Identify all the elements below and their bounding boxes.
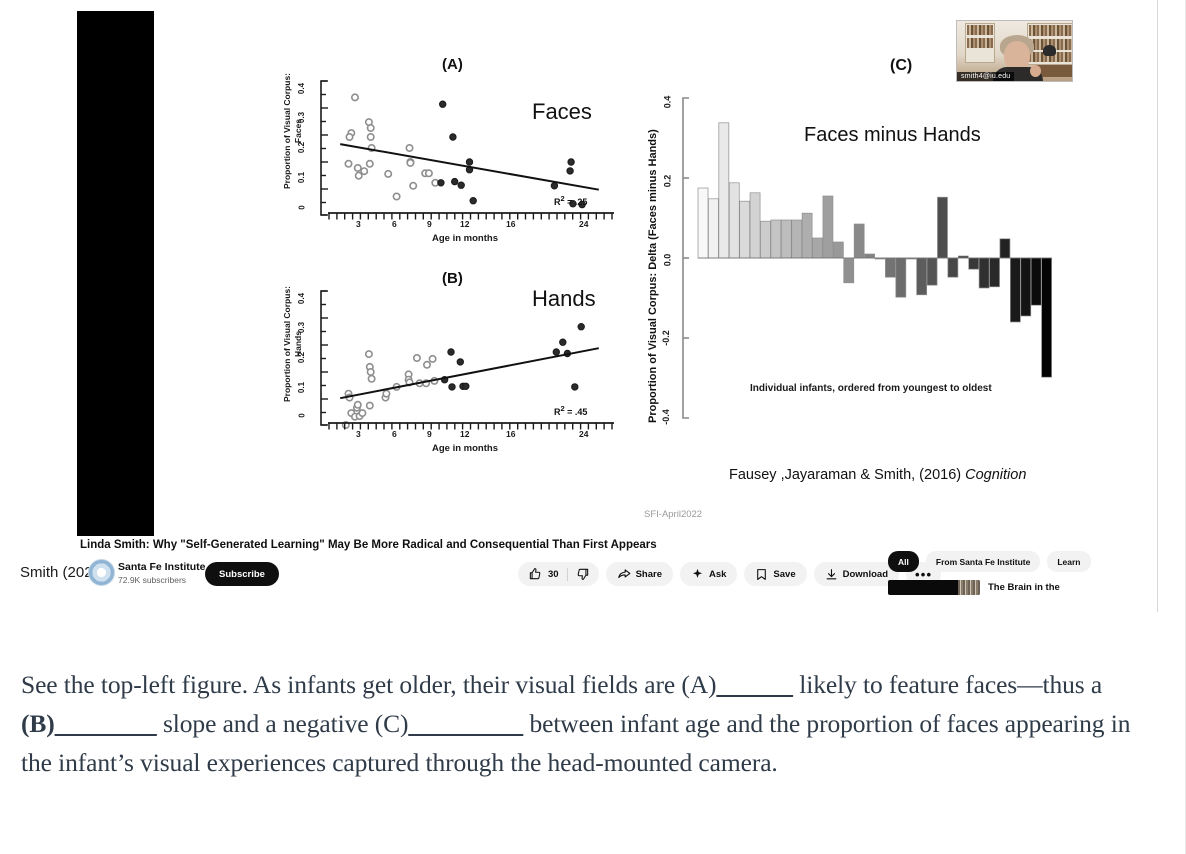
panel-a-ytick: 0.4 [297,83,306,94]
question-text: See the top-left figure. As infants get … [21,665,1156,782]
panel-b-xtick: 3 [356,429,361,439]
panel-b-ytick: 0.1 [297,382,306,393]
panel-b-r2: R2 = .45 [554,404,587,417]
recommended-video-title[interactable]: The Brain in the [988,582,1060,593]
player-letterbox [77,11,154,536]
video-player[interactable]: (A) Faces Proportion of Visual Corpus:Fa… [77,11,1077,536]
panel-c-ytick: -0.2 [661,330,671,346]
question-line2a: to feature faces—thus a [863,670,1102,699]
question-line2b: slope and a negative [157,709,375,738]
question-line4: captured through the head-mounted camera… [332,748,778,777]
panel-a-xtick: 3 [356,219,361,229]
recommended-video-thumbnail[interactable] [888,580,980,595]
panel-a-ytick: 0.2 [297,142,306,153]
panel-b-ytick: 0.2 [297,352,306,363]
panel-a-xaxis [326,211,616,227]
panel-b-xtick: 6 [392,429,397,439]
channel-subscriber-count: 72.9K subscribers [118,575,186,585]
blank-c: _________ [408,709,523,738]
panel-a-xtick: 6 [392,219,397,229]
panel-c-tag: (C) [890,57,912,75]
webcam-pip[interactable]: smith4@iu.edu [956,20,1073,82]
blank-b: ________ [55,709,157,738]
sidebar-filter-chips: All From Santa Fe Institute Learn [888,551,1156,572]
subscribe-button[interactable]: Subscribe [205,562,279,586]
citation-authors: Fausey ,Jayaraman & Smith, (2016) [729,467,965,483]
pip-lamp-icon [1043,45,1056,56]
channel-avatar[interactable] [88,559,115,586]
page-root: (A) Faces Proportion of Visual Corpus:Fa… [0,0,1186,854]
pip-email-label: smith4@iu.edu [957,72,1014,81]
panel-a-xtick: 9 [427,219,432,229]
thumbs-down-icon[interactable] [576,567,590,581]
panel-a-ytick: 0.1 [297,172,306,183]
save-button[interactable]: Save [744,562,806,586]
panel-b-xtick: 9 [427,429,432,439]
panel-c-ylabel: Proportion of Visual Corpus: Delta (Face… [647,129,659,423]
blank-a: ______ [716,670,793,699]
panel-b-ytick: 0.3 [297,322,306,333]
panel-c-ytick: 0.2 [662,175,672,188]
slide-citation: Fausey ,Jayaraman & Smith, (2016) Cognit… [729,467,1026,483]
pip-books [1029,25,1072,36]
channel-name[interactable]: Santa Fe Institute [118,561,206,573]
thumbnail-building-image [958,580,980,595]
share-icon [617,567,631,581]
like-dislike-group[interactable]: 30 [518,562,599,586]
panel-a-xtick: 24 [579,219,588,229]
pip-books [967,38,993,48]
panel-a-r2: R2 = .25 [554,194,587,207]
share-label: Share [636,569,662,580]
citation-journal: Cognition [965,467,1026,483]
panel-b-xlabel: Age in months [432,443,498,454]
recommended-video-item[interactable]: The Brain in the [888,580,1156,595]
panel-b-xtick: 24 [579,429,588,439]
panel-c-ytick: 0.0 [662,254,672,267]
download-icon [825,568,838,581]
video-action-row: 30 Share Ask [518,562,941,586]
panel-a-xlabel: Age in months [432,233,498,244]
panel-b-xtick: 16 [506,429,515,439]
thumbs-up-icon[interactable] [528,567,542,581]
panel-c-ytick: -0.4 [661,409,671,425]
panel-b-xaxis [326,421,616,437]
question-line1b: likely [793,670,857,699]
slide-footer: SFI-April2022 [644,509,702,520]
question-label-b: (B) [21,709,55,738]
pip-hand [1030,65,1041,77]
download-label: Download [843,569,888,580]
share-button[interactable]: Share [606,562,673,586]
save-label: Save [773,569,795,580]
filter-chip-from-channel[interactable]: From Santa Fe Institute [926,551,1040,572]
download-button[interactable]: Download [814,562,899,586]
panel-c-yaxis [675,93,697,423]
panel-b-ytick: 0.4 [297,293,306,304]
panel-c-ytick: 0.4 [662,96,672,109]
filter-chip-learn[interactable]: Learn [1047,551,1090,572]
filter-chip-all[interactable]: All [888,551,919,572]
question-line2c: between [523,709,614,738]
panel-a-ytick: 0 [298,205,307,209]
panel-b-xtick: 12 [460,429,469,439]
video-title[interactable]: Linda Smith: Why "Self-Generated Learnin… [80,539,657,551]
presentation-slide: (A) Faces Proportion of Visual Corpus:Fa… [154,11,1077,536]
question-label-c: (C) [375,709,409,738]
panel-b-ytick: 0 [298,413,307,417]
panel-c-xlabel: Individual infants, ordered from younges… [750,383,992,394]
bookmark-icon [755,568,768,581]
panel-a-xtick: 16 [506,219,515,229]
content-column-divider [1157,0,1158,612]
question-line1a: See the top-left figure. As infants get … [21,670,716,699]
panel-a-ytick: 0.3 [297,112,306,123]
pip-books [967,25,993,35]
panel-c-bars [695,93,1055,423]
sparkle-icon [691,568,704,581]
panel-a-tag: (A) [442,56,463,73]
like-count: 30 [548,569,559,580]
panel-a-xtick: 12 [460,219,469,229]
ask-button[interactable]: Ask [680,562,737,586]
ask-label: Ask [709,569,726,580]
like-dislike-separator [567,568,568,581]
